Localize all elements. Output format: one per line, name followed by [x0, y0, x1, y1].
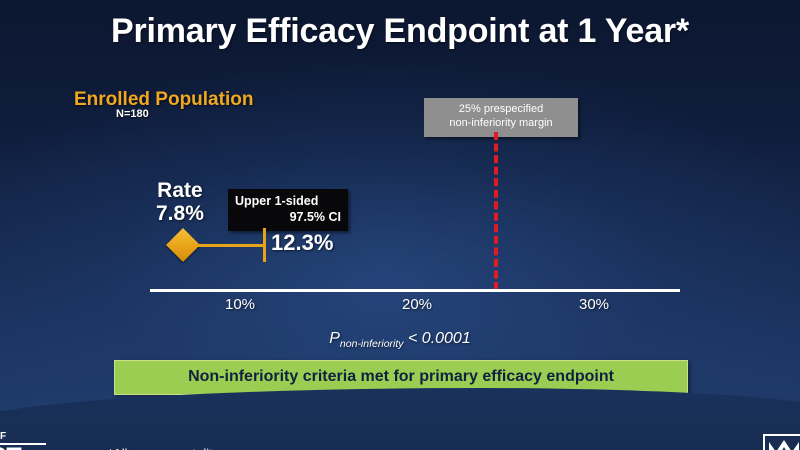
- x-axis-line: [150, 289, 680, 292]
- confidence-interval-upper-cap: [263, 228, 266, 262]
- rate-label: Rate: [156, 180, 204, 203]
- rate-value: 7.8%: [156, 203, 204, 226]
- rate-block: Rate 7.8%: [156, 180, 204, 225]
- crf-logo-text: CRF: [0, 431, 6, 442]
- crf-logo-top: CRF: [0, 431, 54, 442]
- non-inferiority-margin-callout: 25% prespecified non-inferiority margin: [424, 98, 578, 137]
- page-title: Primary Efficacy Endpoint at 1 Year*: [0, 12, 800, 51]
- confidence-interval-upper-value: 12.3%: [271, 230, 333, 256]
- enrolled-population-block: Enrolled Population N=180: [74, 90, 253, 120]
- x-axis-tick-20: 20%: [402, 296, 432, 313]
- p-value-symbol: P: [329, 330, 340, 347]
- non-inferiority-margin-line: [494, 132, 498, 290]
- crf-tct-logo: CRF TCT: [0, 431, 54, 450]
- x-axis-tick-30: 30%: [579, 296, 609, 313]
- p-value-subscript: non-inferiority: [340, 338, 404, 350]
- p-value-annotation: Pnon-inferiority < 0.0001: [0, 330, 800, 350]
- confidence-interval-callout: Upper 1-sided 97.5% CI: [228, 189, 348, 231]
- arterial-logo: THE ARTERIAL: [763, 434, 800, 450]
- p-value-comparison: < 0.0001: [408, 330, 471, 347]
- margin-callout-line2: non-inferiority margin: [428, 117, 574, 131]
- x-axis-tick-10: 10%: [225, 296, 255, 313]
- margin-callout-line1: 25% prespecified: [428, 103, 574, 117]
- footer-band: CRF TCT *All-cause mortality THE ARTERIA…: [0, 388, 800, 450]
- ci-callout-line2: 97.5% CI: [235, 209, 341, 225]
- slide-canvas: Primary Efficacy Endpoint at 1 Year* Enr…: [0, 0, 800, 450]
- tct-logo-text: TCT: [0, 446, 54, 450]
- crown-icon: [763, 434, 800, 450]
- ci-callout-line1: Upper 1-sided: [235, 193, 341, 209]
- footnote-text: *All-cause mortality: [108, 446, 219, 450]
- enrolled-population-label: Enrolled Population: [74, 90, 253, 110]
- confidence-interval-line: [193, 244, 265, 247]
